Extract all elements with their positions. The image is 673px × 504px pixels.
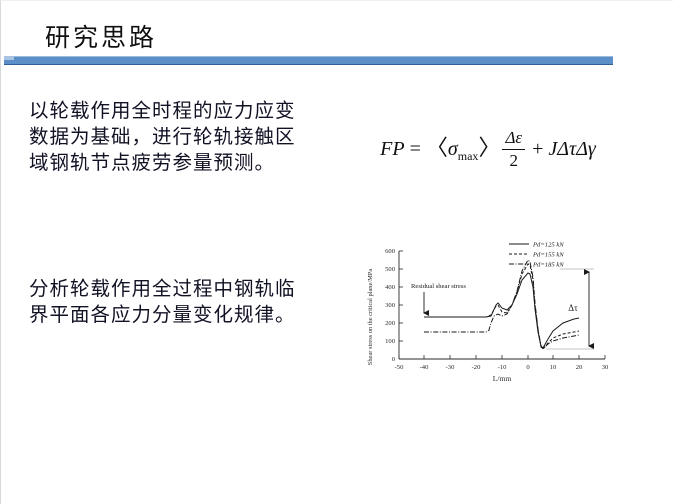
formula-rhs-tail: JΔτΔγ [548, 138, 595, 160]
chart-annotation-residual-shear-stress: Residual shear stress [411, 283, 466, 290]
chart-y-tick-100: 100 [385, 338, 396, 345]
chart-y-axis-label: Shear stress on the critical plane/MPa [367, 269, 374, 366]
formula-denominator: 2 [502, 150, 525, 171]
page-title: 研究思路 [45, 18, 157, 54]
formula-fraction: Δε2 [502, 128, 525, 171]
chart-x-tick--40: -40 [420, 364, 429, 371]
chart-y-tick-400: 400 [385, 284, 396, 291]
slide: 研究思路 以轮载作用全时程的应力应变数据为基础，进行轮轨接触区域钢轨节点疲劳参量… [0, 0, 673, 504]
shear-stress-chart: Shear stress on the critical plane/MPa 0… [361, 239, 629, 391]
chart-y-tick-200: 200 [385, 320, 396, 327]
body-paragraph-2: 分析轮载作用全过程中钢轨临界平面各应力分量变化规律。 [29, 277, 297, 329]
chart-x-tick-20: 20 [576, 364, 583, 371]
chart-x-tick-30: 30 [602, 364, 609, 371]
chart-x-tick--20: -20 [472, 364, 481, 371]
chart-annotation-delta-tau: Δτ [568, 303, 578, 313]
chart-legend: Pd=125 kN Pd=155 kN Pd=185 kN [509, 242, 564, 269]
chart-y-ticks: 0 100 200 300 400 500 600 [385, 248, 403, 363]
chart-y-tick-0: 0 [392, 356, 396, 363]
legend-label-185kn: Pd=185 kN [532, 262, 564, 269]
formula-numerator: Δε [502, 128, 525, 150]
chart-x-tick-10: 10 [550, 364, 557, 371]
formula-lhs: FP [380, 138, 404, 160]
footer: TD 石家庄铁道大学 Shijiazhuang Tiedao Universit… [1, 419, 673, 504]
chart-y-tick-300: 300 [385, 302, 396, 309]
legend-label-155kn: Pd=155 kN [532, 252, 564, 259]
formula-bracket-open: 〈 [426, 135, 448, 160]
title-divider-bar [4, 56, 613, 65]
formula-sigma: σ [448, 138, 458, 160]
legend-label-125kn: Pd=125 kN [532, 242, 564, 249]
chart-x-ticks: -50 -40 -30 -20 -10 0 10 20 30 [395, 355, 609, 371]
chart-series-155kn [424, 264, 579, 349]
formula-bracket-close: 〉 [478, 135, 500, 160]
chart-x-tick-0: 0 [526, 364, 530, 371]
chart-x-tick--50: -50 [395, 364, 404, 371]
chart-canvas: Shear stress on the critical plane/MPa 0… [361, 239, 629, 391]
title-divider-highlight [4, 56, 14, 60]
fatigue-parameter-formula: FP = 〈σmax〉Δε2 + JΔτΔγ [353, 129, 623, 172]
formula-plus: + [532, 138, 543, 160]
chart-y-tick-600: 600 [385, 248, 396, 255]
chart-series-185kn [424, 260, 579, 349]
formula-equals: = [410, 138, 421, 160]
formula-sigma-subscript: max [458, 149, 479, 163]
body-paragraph-1: 以轮载作用全时程的应力应变数据为基础，进行轮轨接触区域钢轨节点疲劳参量预测。 [29, 99, 297, 177]
chart-x-tick--30: -30 [446, 364, 455, 371]
chart-y-tick-500: 500 [385, 266, 396, 273]
chart-x-tick--10: -10 [498, 364, 507, 371]
chart-x-axis-label: L/mm [493, 374, 512, 383]
